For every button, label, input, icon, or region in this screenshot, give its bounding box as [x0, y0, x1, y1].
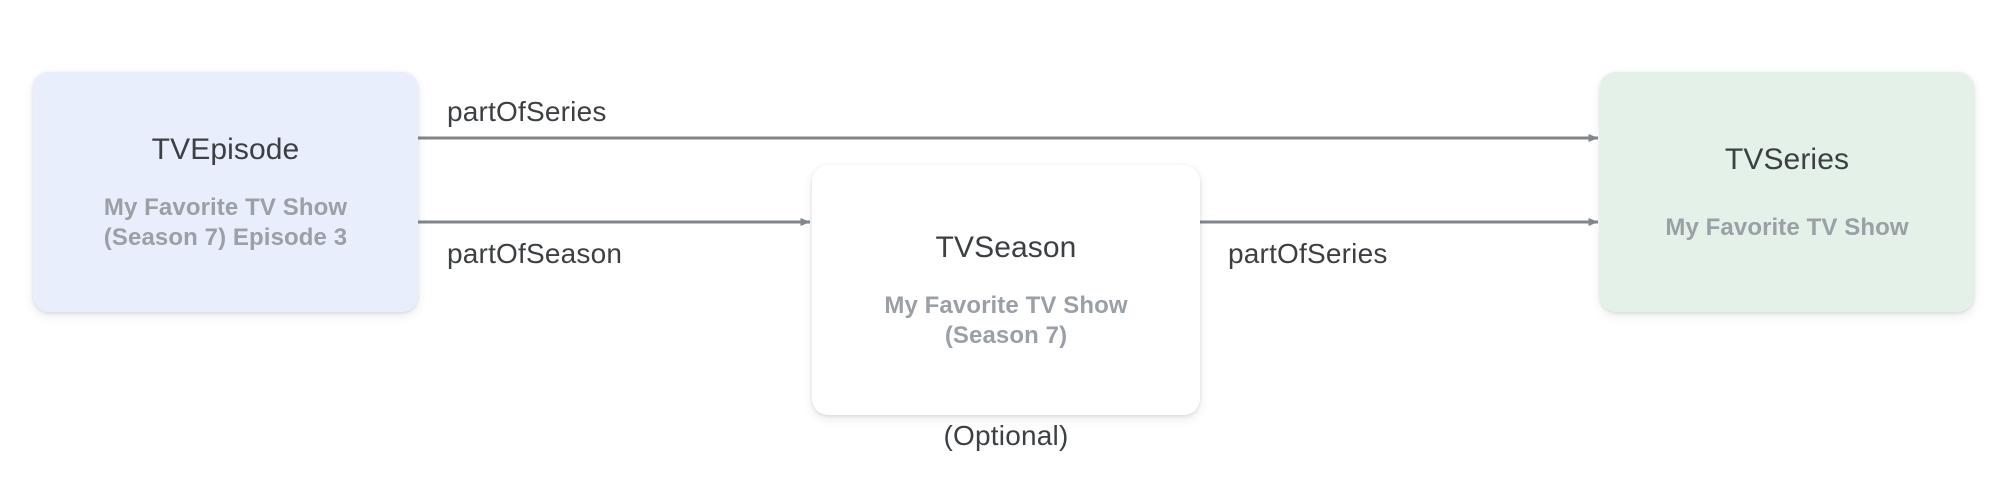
node-tvseries[interactable]: TVSeries My Favorite TV Show: [1600, 72, 1974, 312]
node-tvseries-subtitle: My Favorite TV Show: [1665, 213, 1908, 242]
node-tvepisode-title: TVEpisode: [152, 132, 300, 167]
edge-label-partofseries-season-series: partOfSeries: [1228, 240, 1388, 268]
edge-label-partofseason: partOfSeason: [447, 240, 622, 268]
node-tvepisode[interactable]: TVEpisode My Favorite TV Show (Season 7)…: [33, 72, 418, 312]
tv-entity-relationship-diagram: TVEpisode My Favorite TV Show (Season 7)…: [0, 0, 2000, 495]
tvseason-optional-caption: (Optional): [812, 422, 1200, 450]
node-tvepisode-subtitle: My Favorite TV Show (Season 7) Episode 3: [104, 193, 347, 252]
node-tvseason-title: TVSeason: [936, 230, 1077, 265]
node-tvseason-subtitle: My Favorite TV Show (Season 7): [884, 291, 1127, 350]
node-tvseries-title: TVSeries: [1725, 142, 1849, 177]
node-tvseason[interactable]: TVSeason My Favorite TV Show (Season 7): [812, 165, 1200, 415]
edge-label-partofseries-episode-series: partOfSeries: [447, 98, 607, 126]
